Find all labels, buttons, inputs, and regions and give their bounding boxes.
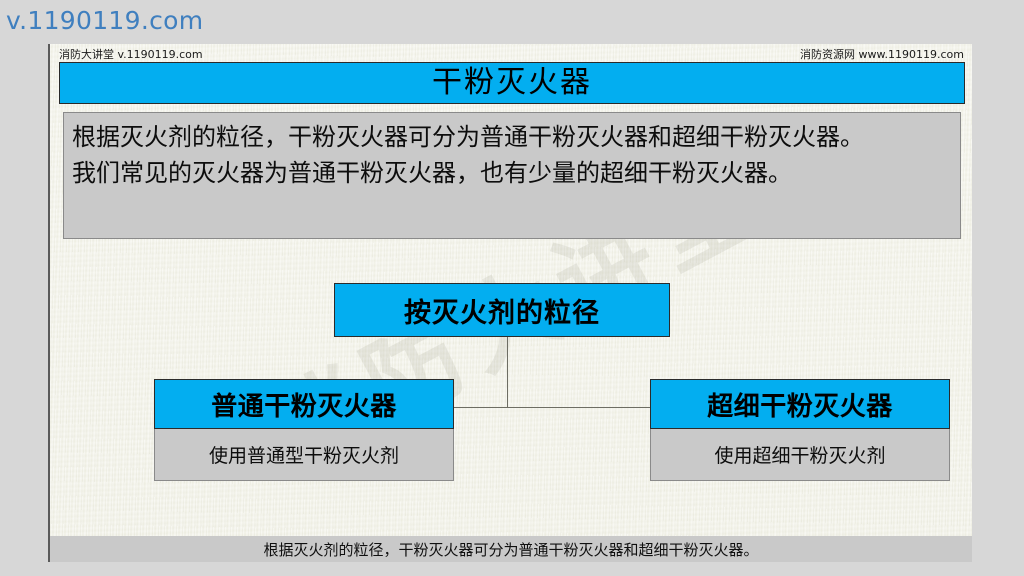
slide-content-layer: 消防大讲堂 v.1190119.com 消防资源网 www.1190119.co… — [50, 44, 972, 536]
slide-header-right: 消防资源网 www.1190119.com — [800, 46, 964, 62]
body-text-panel: 根据灭火剂的粒径，干粉灭火器可分为普通干粉灭火器和超细干粉灭火器。 我们常见的灭… — [63, 112, 961, 239]
presentation-slide: 消防大讲堂 消防大讲堂 v.1190119.com 消防资源网 www.1190… — [48, 44, 972, 536]
diagram-child-1-title: 普通干粉灭火器 — [154, 379, 454, 429]
caption-text: 根据灭火剂的粒径，干粉灭火器可分为普通干粉灭火器和超细干粉灭火器。 — [263, 539, 758, 560]
page-backdrop: v.1190119.com 消防大讲堂 消防大讲堂 v.1190119.com … — [0, 0, 1024, 576]
diagram-root-node: 按灭火剂的粒径 — [334, 283, 670, 337]
diagram-child-node-2: 超细干粉灭火器 使用超细干粉灭火剂 — [650, 379, 950, 481]
page-title: 干粉灭火器 — [432, 68, 592, 98]
diagram-child-node-1: 普通干粉灭火器 使用普通型干粉灭火剂 — [154, 379, 454, 481]
diagram-child-2-title: 超细干粉灭火器 — [650, 379, 950, 429]
body-paragraph-1: 根据灭火剂的粒径，干粉灭火器可分为普通干粉灭火器和超细干粉灭火器。 — [72, 119, 952, 155]
slide-header-left: 消防大讲堂 v.1190119.com — [59, 46, 203, 62]
connector-stem — [507, 337, 508, 408]
site-url-watermark: v.1190119.com — [6, 6, 203, 36]
diagram-root-label: 按灭火剂的粒径 — [404, 291, 600, 330]
body-paragraph-2: 我们常见的灭火器为普通干粉灭火器，也有少量的超细干粉灭火器。 — [72, 155, 952, 191]
slide-caption-bar: 根据灭火剂的粒径，干粉灭火器可分为普通干粉灭火器和超细干粉灭火器。 — [48, 536, 972, 562]
diagram-child-1-detail: 使用普通型干粉灭火剂 — [154, 429, 454, 481]
diagram-child-2-detail: 使用超细干粉灭火剂 — [650, 429, 950, 481]
slide-title-banner: 干粉灭火器 — [59, 62, 965, 104]
org-diagram: 按灭火剂的粒径 普通干粉灭火器 使用普通型干粉灭火剂 超细干粉灭火器 使用超细干… — [50, 239, 972, 509]
